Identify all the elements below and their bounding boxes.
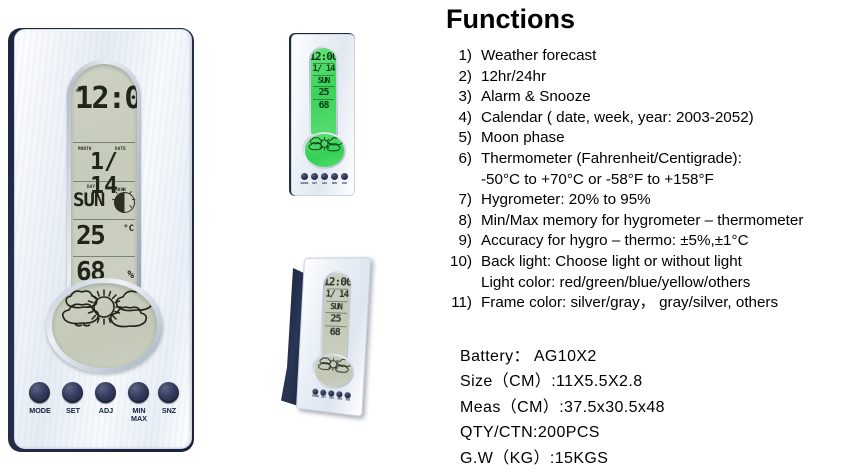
device-body: AM 12:00 MONTH DATE 1/ 14 DAY SUN — [14, 29, 192, 449]
list-item: 1) Weather forecast — [444, 46, 861, 67]
snz-button[interactable] — [158, 382, 179, 403]
set-button[interactable] — [62, 382, 83, 403]
device2-time: 12:00 — [311, 51, 337, 62]
device3-forecast-lens-bezel — [311, 352, 355, 391]
list-item-number: 4) — [444, 108, 472, 129]
list-item-text: Calendar ( date, week, year: 2003-2052) — [481, 108, 861, 129]
list-item: 4) Calendar ( date, week, year: 2003-205… — [444, 108, 861, 129]
temperature-unit: °C — [123, 224, 134, 234]
device2-lcd-bezel: 12:00 1/ 14 SUN 25 68 — [309, 46, 338, 136]
list-item-number: 5) — [444, 128, 472, 149]
device3-lcd-screen: 12:00 1/ 14 SUN 25 68 — [321, 272, 351, 357]
device2-day: SUN — [318, 77, 329, 85]
list-item: 11) Frame color: silver/gray， gray/silve… — [444, 293, 861, 314]
list-item-text: Alarm & Snooze — [481, 87, 861, 108]
forecast-lens-bezel — [46, 278, 163, 373]
moon-phase-icon — [114, 192, 135, 213]
min-max-button-label: MIN MAX — [122, 407, 156, 424]
list-item-number: 8) — [444, 211, 472, 232]
clock-time: 12:00 — [75, 84, 137, 114]
list-item-text: Min/Max memory for hygrometer – thermome… — [481, 211, 861, 232]
list-item-text: Moon phase — [481, 128, 861, 149]
list-item: 2) 12hr/24hr — [444, 67, 861, 88]
lcd-screen: AM 12:00 MONTH DATE 1/ 14 DAY SUN — [71, 64, 137, 288]
device2-temperature: 25 — [318, 88, 328, 98]
list-item-number: 7) — [444, 190, 472, 211]
set-button-label: SET — [56, 407, 90, 415]
moon-phase-indicator: MOON — [112, 188, 135, 214]
device3-lcd-bezel: 12:00 1/ 14 SUN 25 68 — [319, 271, 352, 359]
lcd-row-time: AM 12:00 — [71, 84, 137, 138]
list-item-text: 12hr/24hr — [481, 67, 861, 88]
device3-humidity: 68 — [329, 328, 340, 339]
list-item: 5) Moon phase — [444, 128, 861, 149]
min-max-button[interactable] — [128, 382, 149, 403]
device3-time: 12:00 — [323, 276, 351, 288]
device3-snz-button[interactable] — [344, 392, 351, 399]
weather-station-front-view: AM 12:00 MONTH DATE 1/ 14 DAY SUN — [8, 28, 194, 452]
list-item: 10) Back light: Choose light or without … — [444, 252, 861, 273]
device3-snz-label: SNZ — [343, 399, 352, 402]
device2-set-button[interactable] — [311, 173, 318, 180]
list-item: 7) Hygrometer: 20% to 95% — [444, 190, 861, 211]
device3-temperature: 25 — [330, 314, 341, 325]
device2-date: 1/ 14 — [312, 65, 334, 74]
device3-forecast-lens-screen — [313, 354, 352, 388]
device3-min-max-button[interactable] — [336, 391, 342, 398]
weather-forecast-icon — [52, 283, 157, 368]
list-item-number: 9) — [444, 231, 472, 252]
list-item-number: 1) — [444, 46, 472, 67]
device3-adj-button[interactable] — [328, 390, 334, 397]
snz-button-label: SNZ — [152, 407, 186, 415]
lcd-divider — [73, 142, 135, 143]
list-item-subtext: Light color: red/green/blue/yellow/other… — [481, 273, 861, 294]
list-item-text: Back light: Choose light or without ligh… — [481, 252, 861, 273]
list-item-subtext: -50°C to +70°C or -58°F to +158°F — [481, 170, 861, 191]
device2-control-button-row: MODE SET ADJ MIN SNZ — [301, 173, 349, 187]
list-item: 3) Alarm & Snooze — [444, 87, 861, 108]
device3-date: 1/ 14 — [325, 290, 348, 300]
device2-humidity: 68 — [318, 101, 328, 111]
weather-station-green-backlight: 12:00 1/ 14 SUN 25 68 — [289, 33, 355, 196]
device3-body: 12:00 1/ 14 SUN 25 68 — [296, 257, 371, 417]
device2-mode-button[interactable] — [301, 173, 308, 180]
list-item-number: 2) — [444, 67, 472, 88]
list-item-number: 11) — [444, 293, 472, 314]
page-title: Functions — [446, 4, 575, 34]
device2-forecast-lens-screen — [305, 134, 344, 167]
list-item: 9) Accuracy for hygro – thermo: ±5%,±1°C — [444, 231, 861, 252]
device3-set-button[interactable] — [320, 389, 326, 396]
lcd-panel: AM 12:00 MONTH DATE 1/ 14 DAY SUN — [67, 60, 141, 290]
spec-gross-weight: G.W（KG）:15KGS — [460, 446, 860, 471]
temperature-value: 25 — [76, 222, 104, 250]
device3-day: SUN — [330, 303, 342, 312]
list-item-number: 6) — [444, 149, 472, 170]
humidity-unit: % — [127, 268, 134, 281]
list-item-text: Frame color: silver/gray， gray/silver, o… — [481, 293, 861, 314]
control-button-row: MODE SET ADJ MIN MAX SNZ — [29, 382, 179, 428]
spec-size: Size（CM）:11X5.5X2.8 — [460, 369, 860, 394]
forecast-lens-screen — [52, 283, 157, 368]
specification-text-column: Functions 1) Weather forecast 2) 12hr/24… — [444, 0, 861, 476]
device3-mode-button[interactable] — [312, 388, 318, 395]
device2-forecast-lens-bezel — [302, 132, 346, 169]
device3-control-button-row: MODE SET ADJ MIN SNZ — [312, 388, 353, 405]
list-item-number: 10) — [444, 252, 472, 273]
list-item-text: Weather forecast — [481, 46, 861, 67]
device2-body: 12:00 1/ 14 SUN 25 68 — [291, 34, 355, 196]
device3-weather-forecast-icon — [313, 354, 352, 388]
adj-button-label: ADJ — [89, 407, 123, 415]
spec-measures: Meas（CM）:37.5x30.5x48 — [460, 395, 860, 420]
list-item-text: Thermometer (Fahrenheit/Centigrade): — [481, 149, 861, 170]
mode-button[interactable] — [29, 382, 50, 403]
max-label: MAX — [122, 415, 156, 423]
mode-button-label: MODE — [23, 407, 57, 415]
list-item: 8) Min/Max memory for hygrometer – therm… — [444, 211, 861, 232]
device2-snz-button[interactable] — [341, 173, 348, 180]
adj-button[interactable] — [95, 382, 116, 403]
lcd-row-date: MONTH DATE 1/ 14 — [71, 144, 137, 180]
weather-station-angled-view: 12:00 1/ 14 SUN 25 68 — [278, 258, 370, 410]
list-item-text: Accuracy for hygro – thermo: ±5%,±1°C — [481, 231, 861, 252]
device2-weather-forecast-icon — [305, 134, 344, 167]
spec-battery: Battery： AG10X2 — [460, 344, 860, 369]
product-sheet: AM 12:00 MONTH DATE 1/ 14 DAY SUN — [0, 0, 861, 476]
list-item-number: 3) — [444, 87, 472, 108]
spec-qty-ctn: QTY/CTN:200PCS — [460, 420, 860, 445]
device2-lcd-screen: 12:00 1/ 14 SUN 25 68 — [311, 48, 337, 135]
device2-adj-button[interactable] — [321, 173, 328, 180]
weekday-value: SUN — [73, 190, 104, 210]
list-item: 6) Thermometer (Fahrenheit/Centigrade): — [444, 149, 861, 170]
specifications-block: Battery： AG10X2 Size（CM）:11X5.5X2.8 Meas… — [460, 344, 860, 471]
device2-min-max-button[interactable] — [331, 173, 338, 180]
lcd-row-day-moon: DAY SUN MOON — [71, 182, 137, 220]
list-item-text: Hygrometer: 20% to 95% — [481, 190, 861, 211]
functions-list: 1) Weather forecast 2) 12hr/24hr 3) Alar… — [444, 46, 861, 314]
lcd-row-temperature: 25 °C — [71, 220, 137, 256]
device2-snz-label: SNZ — [339, 182, 350, 185]
